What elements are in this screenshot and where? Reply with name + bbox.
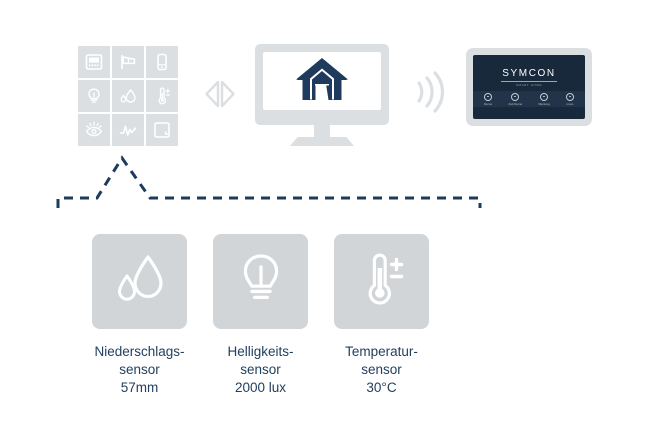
sensor-card-tile — [92, 234, 187, 329]
water-drops-icon — [118, 86, 138, 106]
tablet-nav-item-more[interactable]: more — [566, 93, 574, 106]
tablet-device-icon: SYMCON SMART HOME Demo 2nd Demo Wartung — [466, 48, 592, 126]
sensor-name-line2: sensor — [94, 361, 184, 379]
tablet-brand-name: SYMCON — [473, 68, 585, 79]
pulse-wave-icon — [118, 120, 138, 140]
grid-tile-light-bulb — [78, 80, 110, 112]
display-panel-icon — [84, 52, 104, 72]
sensor-card-tile — [213, 234, 308, 329]
door-contact-icon — [152, 120, 172, 140]
gauge-icon — [484, 93, 492, 101]
grid-tile-display-panel — [78, 46, 110, 78]
gauge-icon — [511, 93, 519, 101]
sensor-card-value: 57mm — [121, 379, 159, 397]
sensor-card-temperature: Temperatur- sensor 30°C — [334, 234, 429, 397]
tablet-brand-subtitle: SMART HOME — [473, 83, 585, 87]
sensor-card-name: Temperatur- sensor — [345, 343, 418, 379]
monitor-stand-neck — [314, 125, 330, 137]
grid-tile-wind-sensor — [112, 46, 144, 78]
sensor-card-name: Helligkeits- sensor — [227, 343, 293, 379]
dashed-roof-connector — [40, 140, 500, 220]
tablet-nav-item-demo[interactable]: Demo — [484, 93, 492, 106]
bidirectional-arrows-icon — [203, 78, 237, 110]
sensor-name-line1: Helligkeits- — [227, 343, 293, 361]
sensor-card-brightness: Helligkeits- sensor 2000 lux — [213, 234, 308, 397]
diagram-canvas: SYMCON SMART HOME Demo 2nd Demo Wartung — [0, 0, 650, 444]
sensor-name-line1: Niederschlags- — [94, 343, 184, 361]
grid-tile-thermometer — [146, 80, 178, 112]
sensor-card-list: Niederschlags- sensor 57mm Helligkeits- — [92, 234, 562, 397]
monitor-frame — [255, 44, 389, 125]
grid-tile-water-drops — [112, 80, 144, 112]
wind-sensor-icon — [118, 52, 138, 72]
wireless-signal-icon — [413, 70, 445, 114]
mobile-device-icon — [152, 52, 172, 72]
thermometer-plus-minus-icon — [350, 247, 414, 316]
monitor-screen — [263, 52, 381, 110]
sensor-card-tile — [334, 234, 429, 329]
motion-eye-icon — [84, 120, 104, 140]
thermometer-icon — [152, 86, 172, 106]
sensor-card-value: 2000 lux — [235, 379, 286, 397]
tablet-brand-logo: SYMCON SMART HOME — [473, 68, 585, 87]
rain-drops-icon — [108, 247, 172, 316]
tablet-nav-item-wartung[interactable]: Wartung — [538, 93, 549, 106]
sensor-device-grid — [78, 46, 188, 146]
sensor-card-value: 30°C — [366, 379, 396, 397]
sensor-card-name: Niederschlags- sensor — [94, 343, 184, 379]
sensor-card-precipitation: Niederschlags- sensor 57mm — [92, 234, 187, 397]
tablet-nav-label: more — [566, 102, 573, 106]
sensor-name-line2: sensor — [345, 361, 418, 379]
monitor-icon — [255, 44, 389, 149]
sensor-name-line1: Temperatur- — [345, 343, 418, 361]
info-icon — [566, 93, 574, 101]
grid-tile-mobile-device — [146, 46, 178, 78]
light-bulb-icon — [229, 247, 293, 316]
tablet-screen: SYMCON SMART HOME Demo 2nd Demo Wartung — [473, 55, 585, 119]
tablet-brand-rule — [501, 81, 557, 82]
house-icon — [294, 55, 350, 108]
tablet-nav-bar: Demo 2nd Demo Wartung more — [473, 91, 585, 107]
tablet-nav-label: Wartung — [538, 102, 549, 106]
tablet-nav-item-2nd-demo[interactable]: 2nd Demo — [508, 93, 522, 106]
sensor-name-line2: sensor — [227, 361, 293, 379]
tablet-nav-label: 2nd Demo — [508, 102, 522, 106]
gear-icon — [540, 93, 548, 101]
tablet-nav-label: Demo — [484, 102, 492, 106]
light-bulb-icon — [84, 86, 104, 106]
